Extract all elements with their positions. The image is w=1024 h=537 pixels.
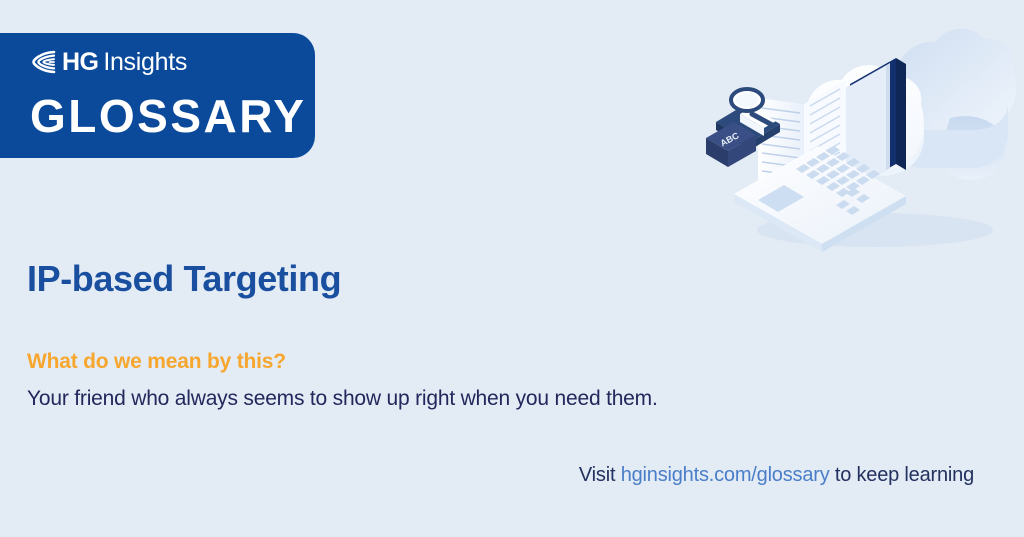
logo-text-insights: Insights [103,50,187,75]
laptop-book-cloud-illustration: ABC [700,18,1024,258]
footer-prefix: Visit [579,464,621,486]
badge-title: GLOSSARY [30,93,315,139]
glossary-card: HG Insights GLOSSARY [0,0,1024,537]
definition-text: Your friend who always seems to show up … [27,384,667,414]
footer-cta: Visit hginsights.com/glossary to keep le… [579,464,974,487]
hg-insights-logo: HG Insights [30,47,315,77]
logo-text-hg: HG [62,50,98,75]
glossary-link[interactable]: hginsights.com/glossary [621,464,830,486]
footer-suffix: to keep learning [830,464,974,486]
page-title: IP-based Targeting [27,258,687,299]
content-block: IP-based Targeting What do we mean by th… [27,258,687,413]
hg-swirl-icon [30,50,58,74]
subheading: What do we mean by this? [27,349,687,374]
header-badge: HG Insights GLOSSARY [0,33,315,158]
